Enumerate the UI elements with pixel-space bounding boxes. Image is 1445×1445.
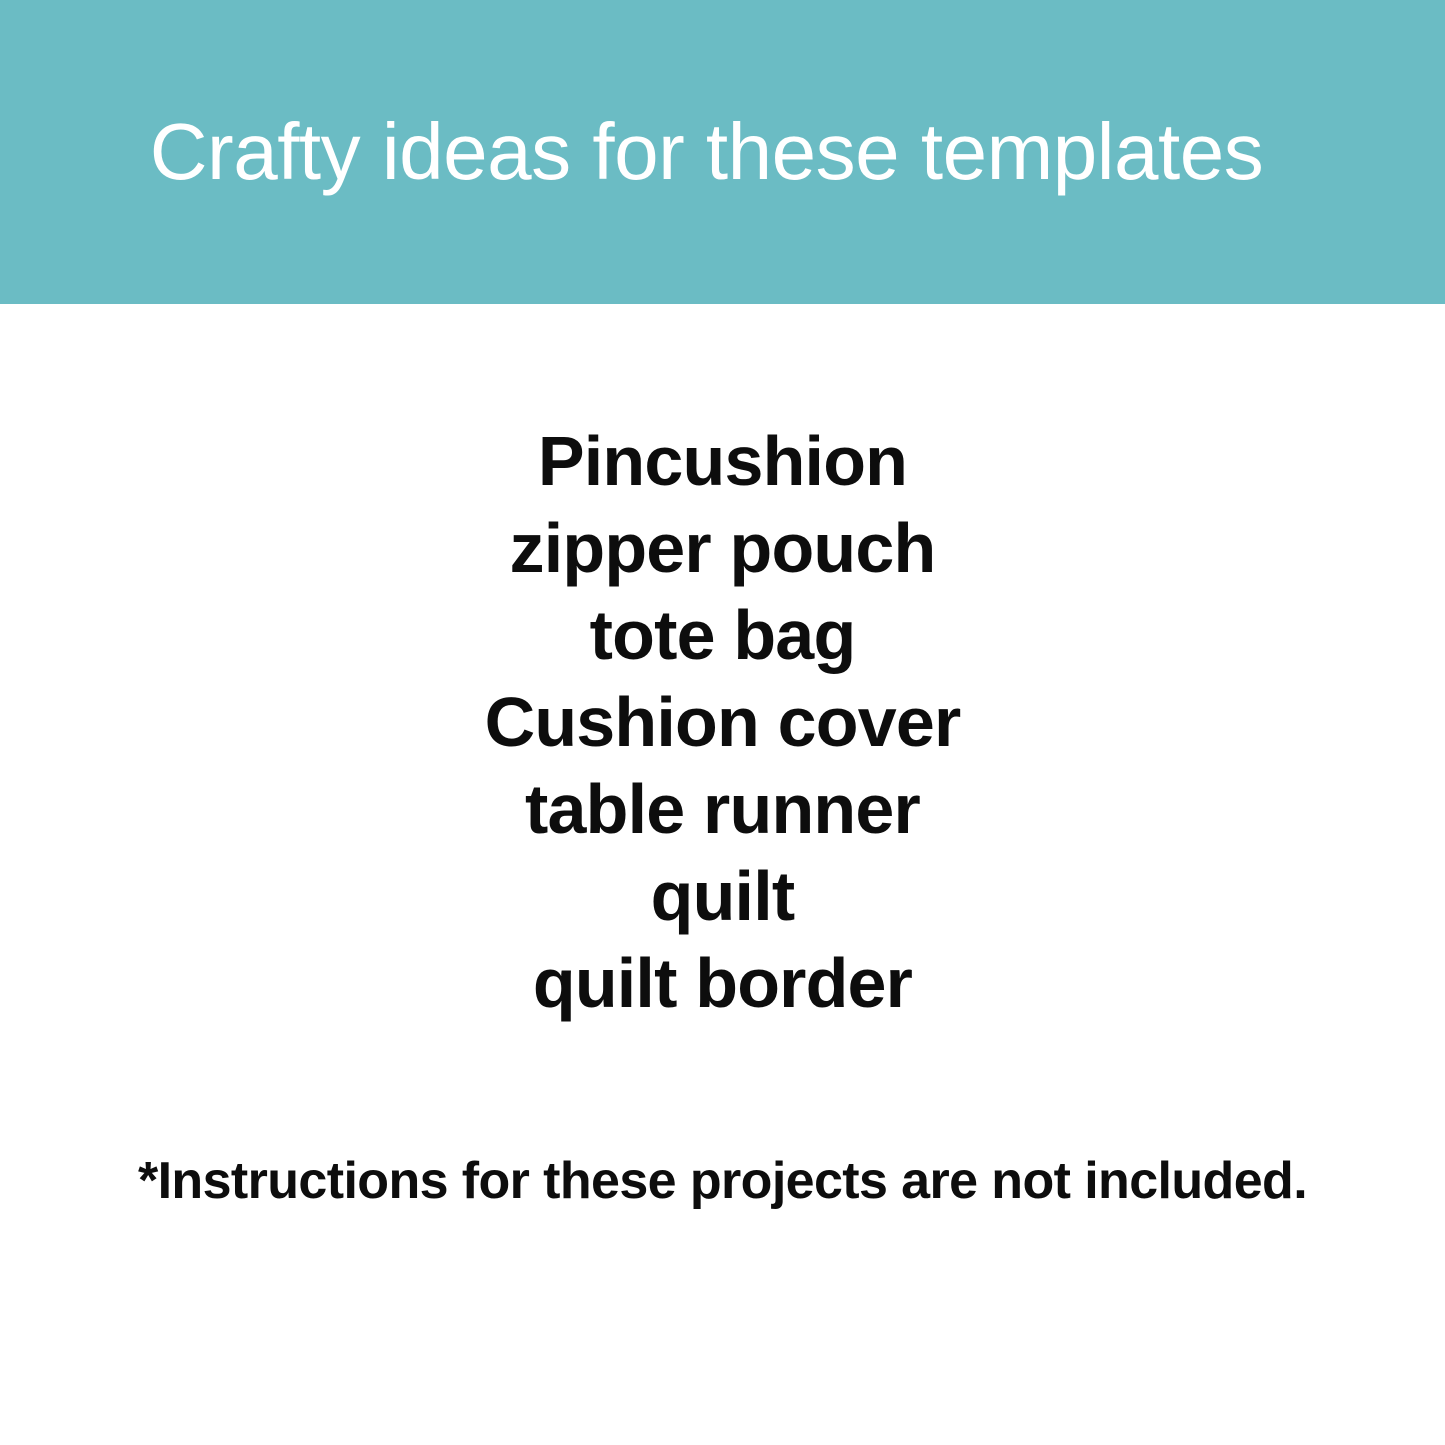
- content-area: Pincushion zipper pouch tote bag Cushion…: [0, 304, 1445, 1445]
- list-item: Pincushion: [0, 418, 1445, 505]
- page-title: Crafty ideas for these templates: [150, 110, 1263, 194]
- header-band: Crafty ideas for these templates: [0, 0, 1445, 304]
- crafty-ideas-list: Pincushion zipper pouch tote bag Cushion…: [0, 418, 1445, 1027]
- footnote-disclaimer: *Instructions for these projects are not…: [0, 1150, 1445, 1212]
- list-item: tote bag: [0, 592, 1445, 679]
- list-item: zipper pouch: [0, 505, 1445, 592]
- list-item: quilt: [0, 853, 1445, 940]
- list-item: table runner: [0, 766, 1445, 853]
- list-item: quilt border: [0, 940, 1445, 1027]
- list-item: Cushion cover: [0, 679, 1445, 766]
- graphic-canvas: Crafty ideas for these templates Pincush…: [0, 0, 1445, 1445]
